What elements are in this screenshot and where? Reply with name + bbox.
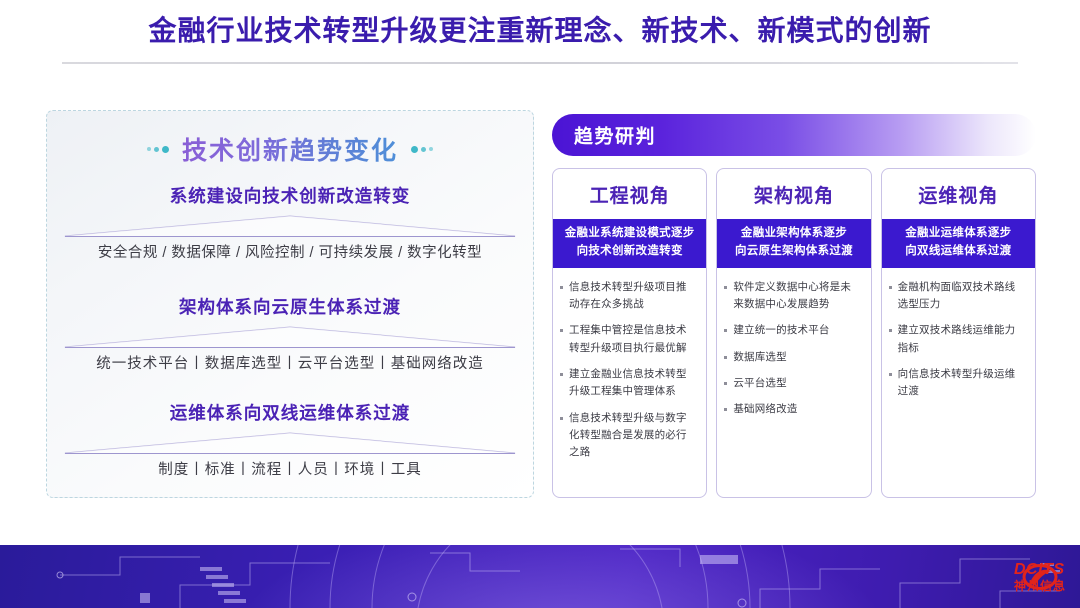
bullet-icon <box>724 356 727 359</box>
list-item-text: 金融机构面临双技术路线选型压力 <box>898 279 1026 314</box>
tier-title: 系统建设向技术创新改造转变 <box>47 183 533 208</box>
bullet-icon <box>889 373 892 376</box>
card-band-line: 金融业运维体系逐步 <box>886 225 1031 243</box>
card-band: 金融业运维体系逐步 向双线运维体系过渡 <box>882 219 1035 268</box>
perspective-card[interactable]: 工程视角 金融业系统建设模式逐步 向技术创新改造转变 信息技术转型升级项目推动存… <box>552 168 707 498</box>
list-item-text: 工程集中管控是信息技术转型升级项目执行最优解 <box>569 322 697 357</box>
card-band: 金融业架构体系逐步 向云原生架构体系过渡 <box>717 219 870 268</box>
three-dots-icon <box>411 146 433 153</box>
list-item-text: 建立金融业信息技术转型升级工程集中管理体系 <box>569 366 697 401</box>
perspective-card[interactable]: 运维视角 金融业运维体系逐步 向双线运维体系过渡 金融机构面临双技术路线选型压力… <box>881 168 1036 498</box>
card-body: 软件定义数据中心将是未来数据中心发展趋势 建立统一的技术平台 数据库选型 云平台… <box>717 268 870 497</box>
bullet-icon <box>724 382 727 385</box>
list-item-text: 云平台选型 <box>733 375 861 392</box>
left-panel-heading-text: 技术创新趋势变化 <box>182 131 398 167</box>
chevron-shape <box>47 323 533 349</box>
tier-subtitle: 安全合规 / 数据保障 / 风险控制 / 可持续发展 / 数字化转型 <box>47 241 533 262</box>
card-band-line: 金融业系统建设模式逐步 <box>557 225 702 243</box>
list-item: 建立金融业信息技术转型升级工程集中管理体系 <box>560 366 697 401</box>
dcits-swirl-icon <box>1014 562 1066 592</box>
tier-title: 运维体系向双线运维体系过渡 <box>47 400 533 425</box>
list-item: 金融机构面临双技术路线选型压力 <box>889 279 1026 314</box>
bullet-icon <box>724 286 727 289</box>
trend-change-panel: 技术创新趋势变化 系统建设向技术创新改造转变 安全合规 / 数据保障 / 风险控… <box>46 110 534 498</box>
card-band-line: 金融业架构体系逐步 <box>721 225 866 243</box>
tier-row: 运维体系向双线运维体系过渡 制度丨标准丨流程丨人员丨环境丨工具 <box>47 400 533 479</box>
card-title: 运维视角 <box>882 169 1035 219</box>
bullet-icon <box>560 329 563 332</box>
bullet-icon <box>889 286 892 289</box>
list-item: 工程集中管控是信息技术转型升级项目执行最优解 <box>560 322 697 357</box>
slide-root: 金融行业技术转型升级更注重新理念、新技术、新模式的创新 技术创新趋势变化 系统建… <box>0 0 1080 608</box>
bullet-icon <box>724 408 727 411</box>
page-title-text: 金融行业技术转型升级更注重新理念、新技术、新模式的创新 <box>0 14 1080 48</box>
list-item-text: 基础网络改造 <box>733 401 861 418</box>
bullet-icon <box>889 329 892 332</box>
list-item-text: 向信息技术转型升级运维过渡 <box>898 366 1026 401</box>
card-title: 架构视角 <box>717 169 870 219</box>
list-item: 建立双技术路线运维能力指标 <box>889 322 1026 357</box>
list-item: 建立统一的技术平台 <box>724 322 861 339</box>
card-title: 工程视角 <box>553 169 706 219</box>
card-body: 金融机构面临双技术路线选型压力 建立双技术路线运维能力指标 向信息技术转型升级运… <box>882 268 1035 497</box>
list-item-text: 建立双技术路线运维能力指标 <box>898 322 1026 357</box>
list-item-text: 信息技术转型升级与数字化转型融合是发展的必行之路 <box>569 410 697 462</box>
chevron-shape <box>47 212 533 238</box>
tier-subtitle: 制度丨标准丨流程丨人员丨环境丨工具 <box>47 458 533 479</box>
bullet-icon <box>724 329 727 332</box>
tier-row: 系统建设向技术创新改造转变 安全合规 / 数据保障 / 风险控制 / 可持续发展… <box>47 183 533 262</box>
bullet-icon <box>560 286 563 289</box>
list-item: 基础网络改造 <box>724 401 861 418</box>
perspective-card-list: 工程视角 金融业系统建设模式逐步 向技术创新改造转变 信息技术转型升级项目推动存… <box>552 168 1036 498</box>
chevron-shape <box>47 429 533 455</box>
banner-label: 趋势研判 <box>574 122 656 149</box>
list-item-text: 软件定义数据中心将是未来数据中心发展趋势 <box>733 279 861 314</box>
tier-subtitle: 统一技术平台丨数据库选型丨云平台选型丨基础网络改造 <box>47 352 533 373</box>
card-band-line: 向云原生架构体系过渡 <box>721 243 866 261</box>
card-body: 信息技术转型升级项目推动存在众多挑战 工程集中管控是信息技术转型升级项目执行最优… <box>553 268 706 497</box>
footer-bar: DCITS 神州信息 <box>0 545 1080 608</box>
list-item: 信息技术转型升级项目推动存在众多挑战 <box>560 279 697 314</box>
list-item: 信息技术转型升级与数字化转型融合是发展的必行之路 <box>560 410 697 462</box>
title-divider <box>62 62 1018 64</box>
list-item-text: 建立统一的技术平台 <box>733 322 861 339</box>
trend-judgement-banner: 趋势研判 <box>552 114 1036 156</box>
bullet-icon <box>560 417 563 420</box>
list-item: 数据库选型 <box>724 349 861 366</box>
list-item: 向信息技术转型升级运维过渡 <box>889 366 1026 401</box>
tier-row: 架构体系向云原生体系过渡 统一技术平台丨数据库选型丨云平台选型丨基础网络改造 <box>47 294 533 373</box>
company-logo: DCITS 神州信息 <box>1014 562 1066 592</box>
card-band-line: 向技术创新改造转变 <box>557 243 702 261</box>
left-panel-heading: 技术创新趋势变化 <box>47 131 533 167</box>
list-item: 软件定义数据中心将是未来数据中心发展趋势 <box>724 279 861 314</box>
card-band-line: 向双线运维体系过渡 <box>886 243 1031 261</box>
circuit-pattern-icon <box>0 545 1080 608</box>
list-item: 云平台选型 <box>724 375 861 392</box>
list-item-text: 数据库选型 <box>733 349 861 366</box>
three-dots-icon <box>147 146 169 153</box>
card-band: 金融业系统建设模式逐步 向技术创新改造转变 <box>553 219 706 268</box>
bullet-icon <box>560 373 563 376</box>
page-title: 金融行业技术转型升级更注重新理念、新技术、新模式的创新 <box>0 14 1080 48</box>
perspective-card[interactable]: 架构视角 金融业架构体系逐步 向云原生架构体系过渡 软件定义数据中心将是未来数据… <box>716 168 871 498</box>
tier-title: 架构体系向云原生体系过渡 <box>47 294 533 319</box>
list-item-text: 信息技术转型升级项目推动存在众多挑战 <box>569 279 697 314</box>
